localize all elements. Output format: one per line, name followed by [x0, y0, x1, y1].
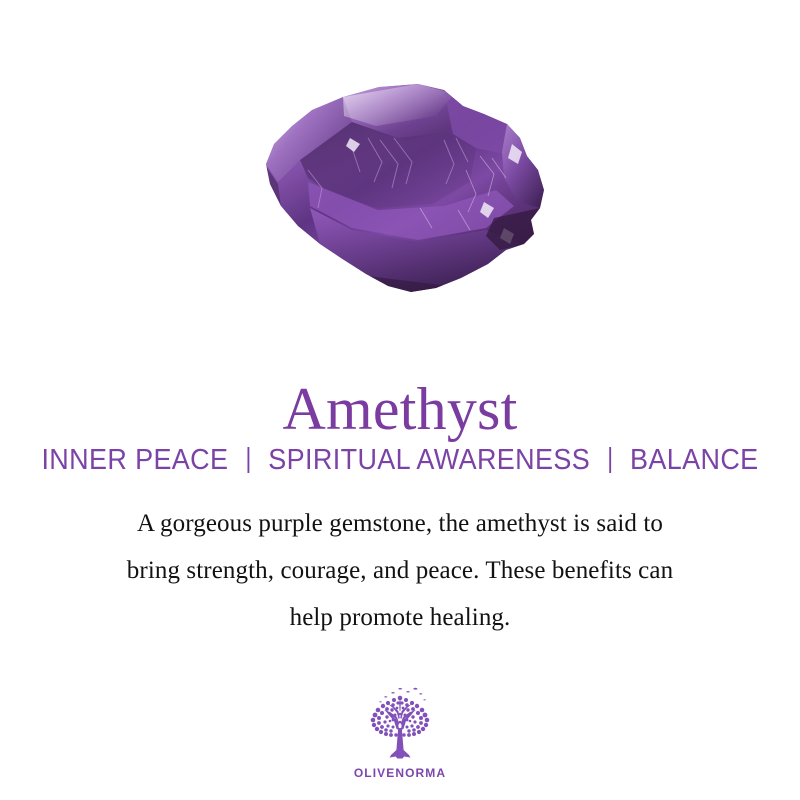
page-title: Amethyst	[0, 376, 800, 442]
raw-amethyst-crystal-image	[248, 78, 560, 302]
description-line-1: A gorgeous purple gemstone, the amethyst…	[55, 500, 745, 547]
description-line-3: help promote healing.	[55, 594, 745, 641]
description-line-2: bring strength, courage, and peace. Thes…	[55, 547, 745, 594]
keyword-inner-peace: INNER PEACE	[41, 444, 228, 476]
keyword-separator-2	[609, 447, 611, 473]
amethyst-product-card: Amethyst INNER PEACE SPIRITUAL AWARENESS…	[0, 0, 800, 800]
brand-name: OLIVENORMA	[354, 766, 446, 780]
hero-image-area	[0, 0, 800, 320]
tree-of-life-icon	[357, 684, 443, 764]
description-text: A gorgeous purple gemstone, the amethyst…	[55, 500, 745, 641]
keyword-separator-1	[247, 447, 249, 473]
keyword-spiritual-awareness: SPIRITUAL AWARENESS	[268, 444, 590, 476]
brand-block: OLIVENORMA	[0, 684, 800, 780]
keyword-row: INNER PEACE SPIRITUAL AWARENESS BALANCE	[28, 443, 772, 477]
keyword-balance: BALANCE	[630, 444, 759, 476]
birds-icon	[379, 688, 426, 703]
